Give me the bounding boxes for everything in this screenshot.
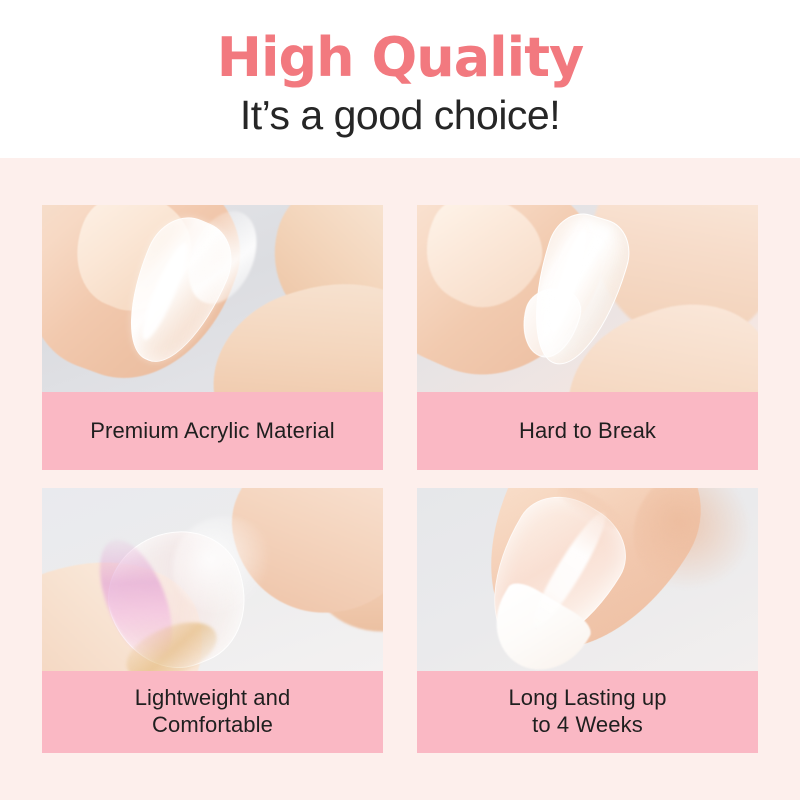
- page-title: High Quality: [217, 30, 583, 87]
- caption-line-2: to 4 Weeks: [532, 712, 643, 737]
- feature-card-hard-to-break: Hard to Break: [417, 205, 758, 470]
- feature-photo-premium-acrylic-material: [42, 205, 383, 392]
- feature-caption-long-lasting-up-to-4-weeks: Long Lasting up to 4 Weeks: [417, 671, 758, 753]
- feature-photo-long-lasting-up-to-4-weeks: [417, 488, 758, 671]
- feature-caption-hard-to-break: Hard to Break: [417, 392, 758, 470]
- caption-line-1: Long Lasting up: [508, 685, 666, 710]
- caption-line-2: Comfortable: [152, 712, 273, 737]
- header-banner: High Quality It’s a good choice!: [0, 0, 800, 158]
- caption-line-1: Lightweight and: [135, 685, 291, 710]
- page-subtitle: It’s a good choice!: [240, 93, 560, 138]
- infographic-page: High Quality It’s a good choice! Premium…: [0, 0, 800, 800]
- feature-caption-lightweight-and-comfortable: Lightweight and Comfortable: [42, 671, 383, 753]
- feature-card-long-lasting-up-to-4-weeks: Long Lasting up to 4 Weeks: [417, 488, 758, 753]
- feature-grid: Premium Acrylic Material Hard to Break: [42, 205, 758, 753]
- feature-caption-premium-acrylic-material: Premium Acrylic Material: [42, 392, 383, 470]
- feature-photo-lightweight-and-comfortable: [42, 488, 383, 671]
- feature-card-premium-acrylic-material: Premium Acrylic Material: [42, 205, 383, 470]
- feature-photo-hard-to-break: [417, 205, 758, 392]
- feature-card-lightweight-and-comfortable: Lightweight and Comfortable: [42, 488, 383, 753]
